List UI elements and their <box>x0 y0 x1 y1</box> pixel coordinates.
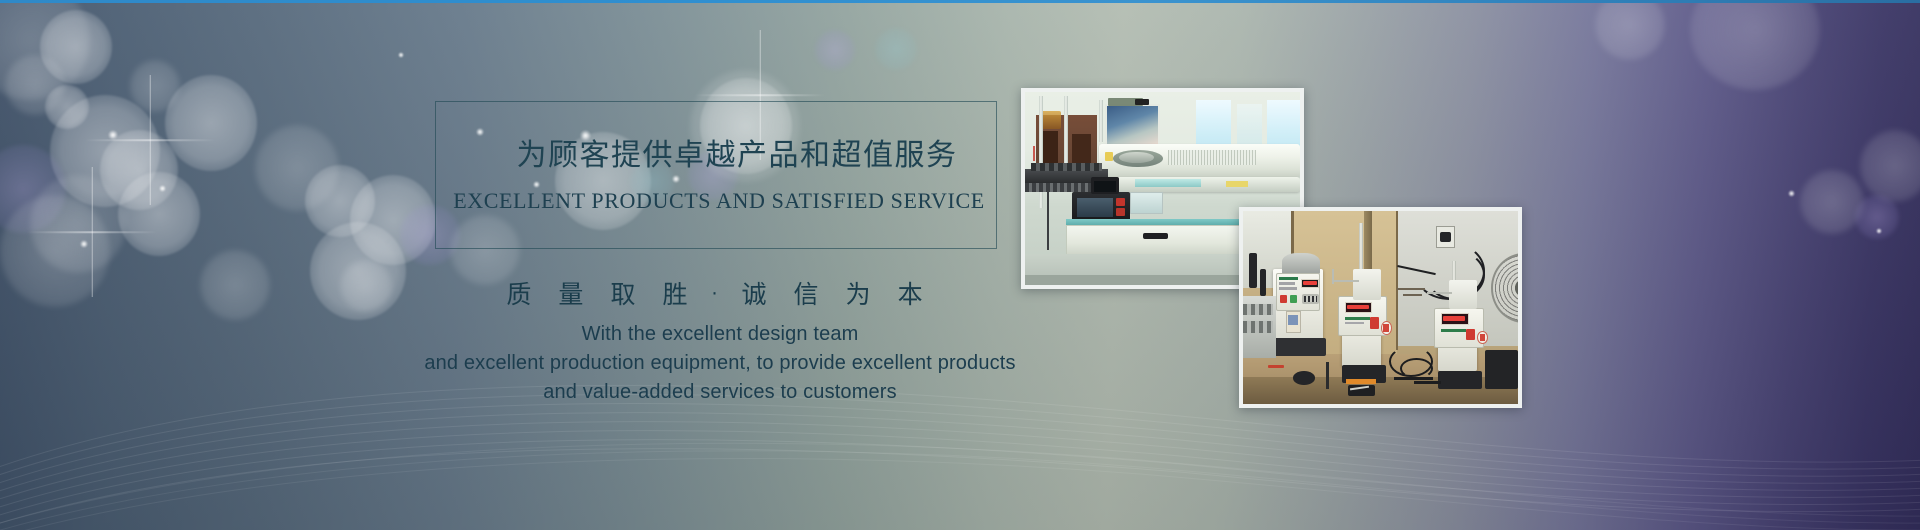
headline-english: EXCELLENT PRODUCTS AND SATISFIED SERVICE <box>435 188 997 214</box>
headline-frame <box>435 101 997 249</box>
slogan-char: 胜 <box>649 275 701 311</box>
slogan-char: 取 <box>597 275 649 311</box>
banner-text-block: 为顾客提供卓越产品和超值服务 EXCELLENT PRODUCTS AND SA… <box>0 0 1150 530</box>
equipment-photo <box>1239 207 1522 408</box>
slogan-char: 质 <box>493 275 545 311</box>
slogan-line: 质量取胜·诚信为本 <box>430 275 1000 311</box>
paragraph-line: and excellent production equipment, to p… <box>395 349 1045 378</box>
slogan-char: 本 <box>885 275 937 311</box>
headline-chinese: 为顾客提供卓越产品和超值服务 <box>435 130 997 174</box>
description-paragraph: With the excellent design team and excel… <box>395 320 1045 407</box>
slogan-char: 为 <box>833 275 885 311</box>
top-accent-line <box>0 0 1920 3</box>
promo-banner: 为顾客提供卓越产品和超值服务 EXCELLENT PRODUCTS AND SA… <box>0 0 1920 530</box>
slogan-separator-dot: · <box>701 283 728 305</box>
slogan-char: 量 <box>545 275 597 311</box>
paragraph-line: and value-added services to customers <box>395 378 1045 407</box>
slogan-char: 诚 <box>729 275 781 311</box>
slogan-char: 信 <box>781 275 833 311</box>
paragraph-line: With the excellent design team <box>395 320 1045 349</box>
